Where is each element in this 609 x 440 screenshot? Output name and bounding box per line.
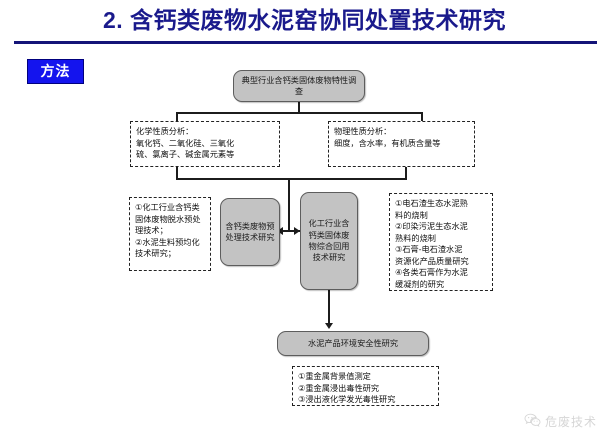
arrow-to-safety (325, 323, 333, 329)
safety-list-line-1: ②重金属浸出毒性研究 (298, 383, 433, 395)
reuse-list-line-7: 缓凝剂的研究 (395, 279, 487, 291)
connector-merge-bar (176, 178, 407, 180)
reuse-list-line-4: ③石膏-电石渣水泥 (395, 244, 487, 256)
physical-line-1: 细度，含水率，有机质含量等 (334, 138, 469, 150)
pretreat-tech-line-4: 技术研究； (135, 248, 205, 260)
node-comprehensive-reuse-research[interactable]: 化工行业含钙类固体废物综合回用技术研究 (300, 192, 358, 290)
reuse-list-line-2: ②印染污泥生态水泥 (395, 221, 487, 233)
connector-merge-stem (288, 178, 290, 231)
connector-split-top (176, 112, 422, 114)
slide-canvas: 2. 含钙类废物水泥窑协同处置技术研究 方法 典型行业含钙类固体废物特性调查 化… (0, 0, 609, 440)
node-reuse-label: 化工行业含钙类固体废物综合回用技术研究 (305, 218, 353, 264)
safety-list-line-2: ③浸出液化学发光毒性研究 (298, 394, 433, 406)
chemical-line-1: 氧化钙、二氧化硅、三氧化 (136, 138, 274, 150)
connector-to-chemical (176, 112, 178, 121)
node-physical-analysis[interactable]: 物理性质分析： 细度，含水率，有机质含量等 (328, 121, 475, 167)
node-pretreatment-research[interactable]: 含钙类废物预处理技术研究 (220, 198, 280, 266)
safety-list-line-0: ①重金属背景值测定 (298, 371, 433, 383)
node-pretreat-label: 含钙类废物预处理技术研究 (225, 221, 275, 244)
chemical-line-0: 化学性质分析： (136, 126, 274, 138)
reuse-list-line-5: 资源化产品质量研究 (395, 256, 487, 268)
node-product-environmental-safety[interactable]: 水泥产品环境安全性研究 (277, 331, 429, 356)
node-reuse-task-list[interactable]: ①电石渣生态水泥熟 料的烧制 ②印染污泥生态水泥 熟料的烧制 ③石膏-电石渣水泥… (389, 193, 493, 291)
physical-line-0: 物理性质分析： (334, 126, 469, 138)
node-safety-label: 水泥产品环境安全性研究 (308, 338, 398, 349)
pretreat-tech-line-1: 固体废物脱水预处 (135, 214, 205, 226)
reuse-list-line-6: ④各类石膏作为水泥 (395, 267, 487, 279)
page-title: 2. 含钙类废物水泥窑协同处置技术研究 (0, 6, 609, 34)
reuse-list-line-0: ①电石渣生态水泥熟 (395, 198, 487, 210)
title-divider (14, 41, 597, 44)
node-pretreatment-tech-list[interactable]: ①化工行业含钙类 固体废物脱水预处 理技术； ②水泥生料预均化 技术研究； (129, 197, 211, 271)
section-tag-method: 方法 (27, 59, 84, 84)
wechat-icon (524, 413, 541, 430)
pretreat-tech-line-0: ①化工行业含钙类 (135, 202, 205, 214)
chemical-line-2: 硫、氯离子、碱金属元素等 (136, 149, 274, 161)
reuse-list-line-3: 熟料的烧制 (395, 233, 487, 245)
pretreat-tech-line-3: ②水泥生料预均化 (135, 237, 205, 249)
node-safety-task-list[interactable]: ①重金属背景值测定 ②重金属浸出毒性研究 ③浸出液化学发光毒性研究 (292, 366, 439, 406)
watermark-label: 危废技术 (545, 413, 597, 430)
connector-reuse-to-safety (328, 290, 330, 324)
connector-to-physical (421, 112, 423, 121)
watermark: 危废技术 (524, 413, 597, 430)
node-chemical-analysis[interactable]: 化学性质分析： 氧化钙、二氧化硅、三氧化 硫、氯离子、碱金属元素等 (130, 121, 280, 167)
node-survey-label: 典型行业含钙类固体废物特性调查 (238, 75, 360, 98)
pretreat-tech-line-2: 理技术； (135, 225, 205, 237)
reuse-list-line-1: 料的烧制 (395, 210, 487, 222)
node-typical-industry-survey[interactable]: 典型行业含钙类固体废物特性调查 (233, 70, 365, 102)
